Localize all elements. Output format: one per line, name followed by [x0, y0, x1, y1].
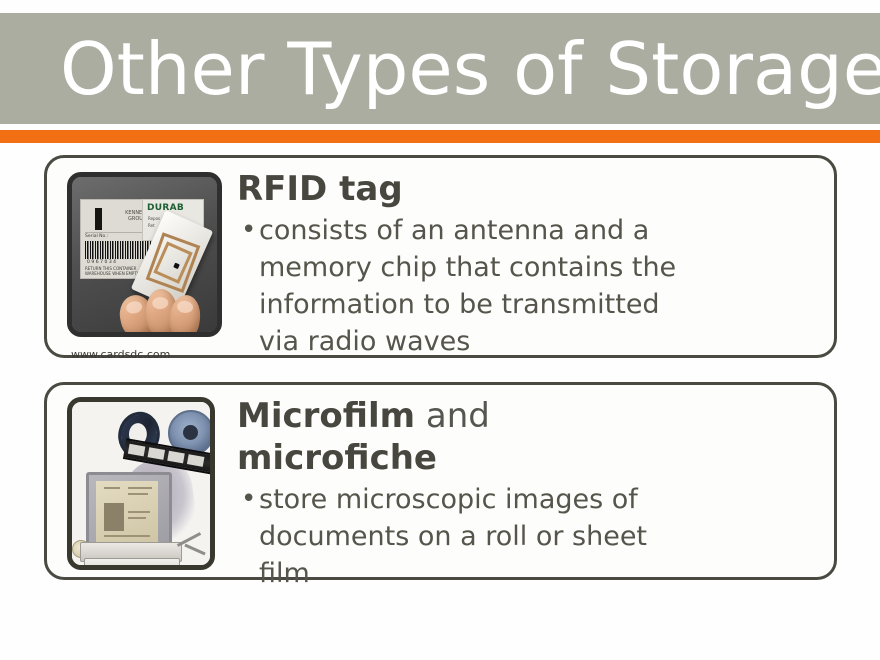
- bullet-marker-icon: •: [237, 481, 259, 518]
- rfid-bullet-text: consists of an antenna and a memory chip…: [259, 212, 676, 360]
- page-title: Other Types of Storage: [60, 29, 880, 109]
- rfid-heading-bold: RFID tag: [237, 169, 403, 209]
- label-footer-text2: WAREHOUSE WHEN EMPTY: [85, 271, 139, 276]
- rfid-bullet-line-4: via radio waves: [259, 323, 676, 360]
- microfilm-heading-normal: and: [415, 396, 490, 436]
- content-panel-rfid: KENNEDY GROUP Serial No.: 0967034 RETURN…: [44, 155, 837, 358]
- microfilm-bullet-text: store microscopic images of documents on…: [259, 481, 647, 592]
- durable-line-2: Ret: [148, 223, 155, 228]
- rfid-heading: RFID tag: [237, 168, 817, 210]
- reader-arm-graphic-2: [184, 544, 205, 556]
- accent-rule: [0, 130, 880, 143]
- microfilm-bullet-line-3: film: [259, 555, 647, 592]
- microfilm-reader-image: [67, 397, 215, 570]
- rfid-bullet-line-3: information to be transmitted: [259, 286, 676, 323]
- rfid-bullet-line-1: consists of an antenna and a: [259, 212, 676, 249]
- label-serial-text: Serial No.:: [85, 234, 108, 239]
- content-panel-microfilm: Microfilm and microfiche • store microsc…: [44, 382, 837, 580]
- slide-title-band: Other Types of Storage: [0, 13, 880, 124]
- rfid-tag-image: KENNEDY GROUP Serial No.: 0967034 RETURN…: [67, 172, 222, 337]
- rfid-image-caption: www.cardsdc.com: [71, 348, 170, 361]
- microfilm-text-column: Microfilm and microfiche • store microsc…: [237, 395, 817, 592]
- microfilm-bullet-item: • store microscopic images of documents …: [237, 481, 817, 592]
- rfid-bullet-item: • consists of an antenna and a memory ch…: [237, 212, 817, 360]
- rfid-bullet-line-2: memory chip that contains the: [259, 249, 676, 286]
- durable-line-1: Repos: [148, 216, 160, 221]
- microfilm-bullet-line-2: documents on a roll or sheet: [259, 518, 647, 555]
- label-digits-text: 0967034: [87, 260, 118, 265]
- bullet-marker-icon: •: [237, 212, 259, 249]
- microfilm-heading-bold: Microfilm: [237, 396, 415, 436]
- microfilm-bullet-line-1: store microscopic images of: [259, 481, 647, 518]
- rfid-text-column: RFID tag • consists of an antenna and a …: [237, 168, 817, 360]
- microfilm-heading-bold2: microfiche: [237, 438, 437, 478]
- reader-base-lower-graphic: [84, 558, 180, 570]
- microfilm-heading: Microfilm and microfiche: [237, 395, 817, 479]
